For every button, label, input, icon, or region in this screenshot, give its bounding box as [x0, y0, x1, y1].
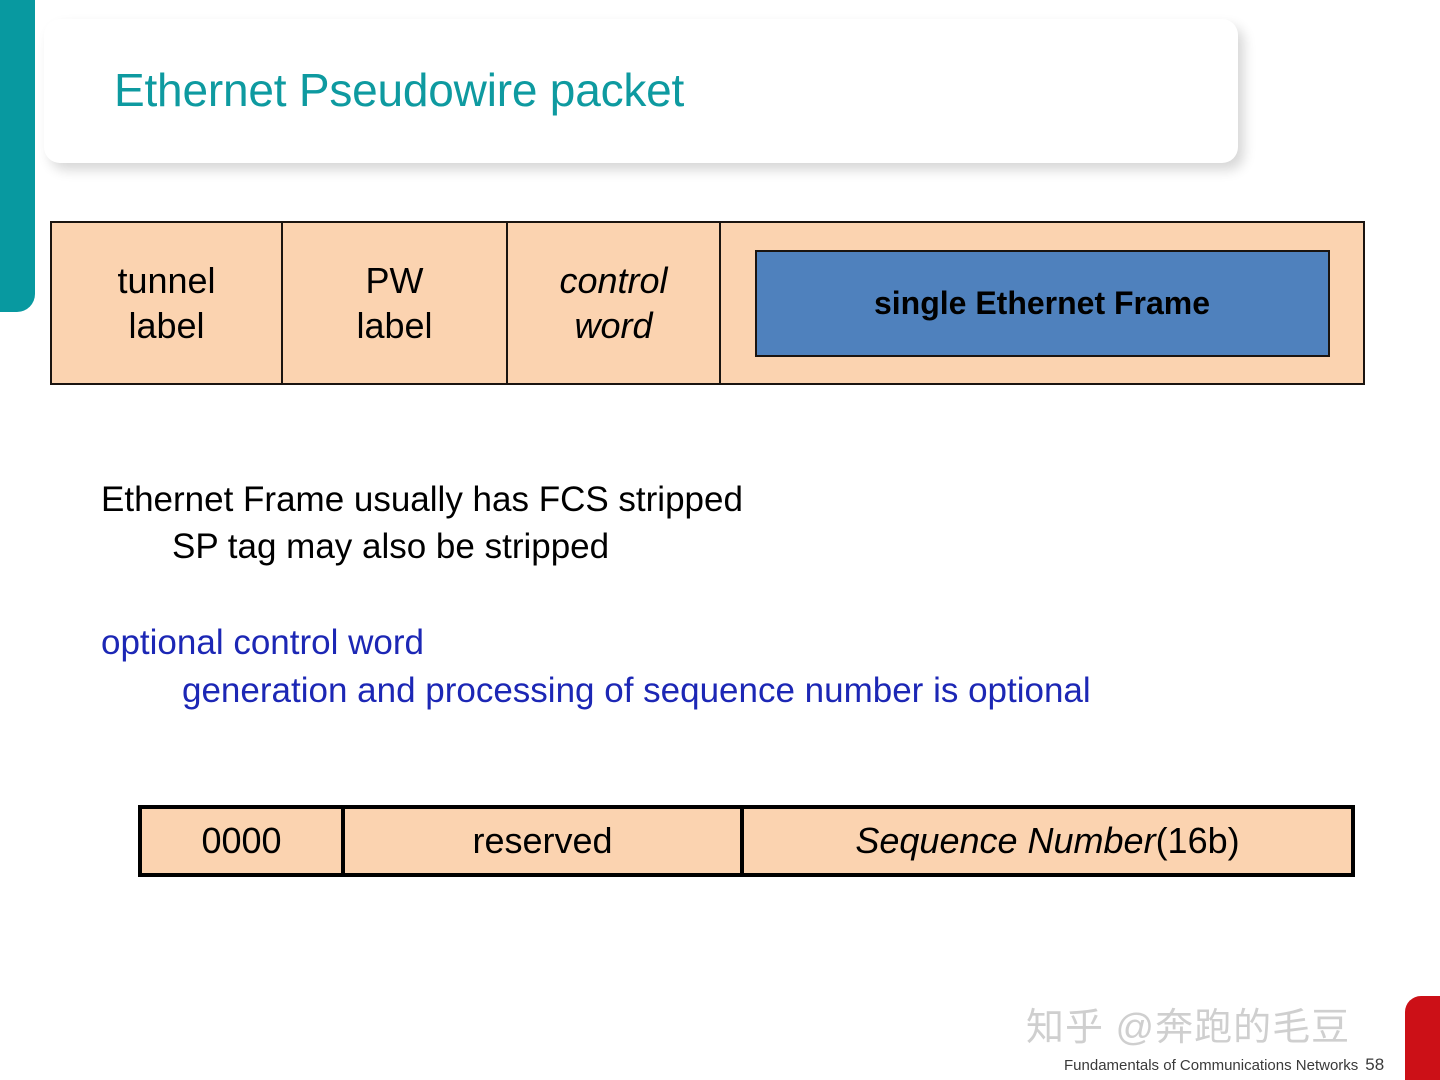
control-word-cell-sequence-number: Sequence Number (16b): [744, 809, 1351, 873]
footer: Fundamentals of Communications Networks5…: [1064, 1055, 1384, 1075]
packet-field-tunnel-label: tunnel label: [52, 223, 283, 383]
ethernet-pseudowire-packet-diagram: tunnel label PW label control word singl…: [50, 221, 1365, 385]
control-word-cell-flags: 0000: [142, 809, 345, 873]
packet-field-tunnel-label-line1: tunnel: [117, 258, 215, 303]
zhihu-watermark: 知乎 @奔跑的毛豆: [1026, 996, 1350, 1051]
packet-field-pw-label-line2: label: [356, 303, 432, 348]
packet-field-control-word: control word: [508, 223, 721, 383]
teal-accent-bar: [0, 0, 35, 312]
packet-field-control-word-line1: control: [559, 258, 667, 303]
control-word-cell-reserved: reserved: [345, 809, 744, 873]
page-title: Ethernet Pseudowire packet: [114, 63, 684, 117]
packet-field-pw-label-line1: PW: [356, 258, 432, 303]
packet-field-tunnel-label-line2: label: [117, 303, 215, 348]
note-fcs-stripped: Ethernet Frame usually has FCS stripped: [101, 482, 743, 517]
slide-canvas: Ethernet Pseudowire packet tunnel label …: [0, 0, 1440, 1080]
title-card: Ethernet Pseudowire packet: [44, 19, 1238, 163]
control-word-sequence-number-bits: (16b): [1156, 820, 1240, 862]
footer-page-number: 58: [1365, 1055, 1384, 1074]
note-sp-tag-stripped: SP tag may also be stripped: [172, 529, 609, 564]
control-word-layout-diagram: 0000 reserved Sequence Number (16b): [138, 805, 1355, 877]
single-ethernet-frame-label: single Ethernet Frame: [874, 283, 1210, 323]
packet-field-control-word-line2: word: [559, 303, 667, 348]
note-optional-control-word: optional control word: [101, 625, 424, 660]
note-sequence-number-optional: generation and processing of sequence nu…: [182, 673, 1091, 708]
red-corner-accent: [1405, 996, 1440, 1080]
control-word-sequence-number-italic: Sequence Number: [855, 820, 1155, 862]
packet-field-payload: single Ethernet Frame: [721, 223, 1363, 383]
single-ethernet-frame-box: single Ethernet Frame: [755, 250, 1330, 357]
packet-field-pw-label: PW label: [283, 223, 508, 383]
footer-course-title: Fundamentals of Communications Networks: [1064, 1057, 1358, 1074]
